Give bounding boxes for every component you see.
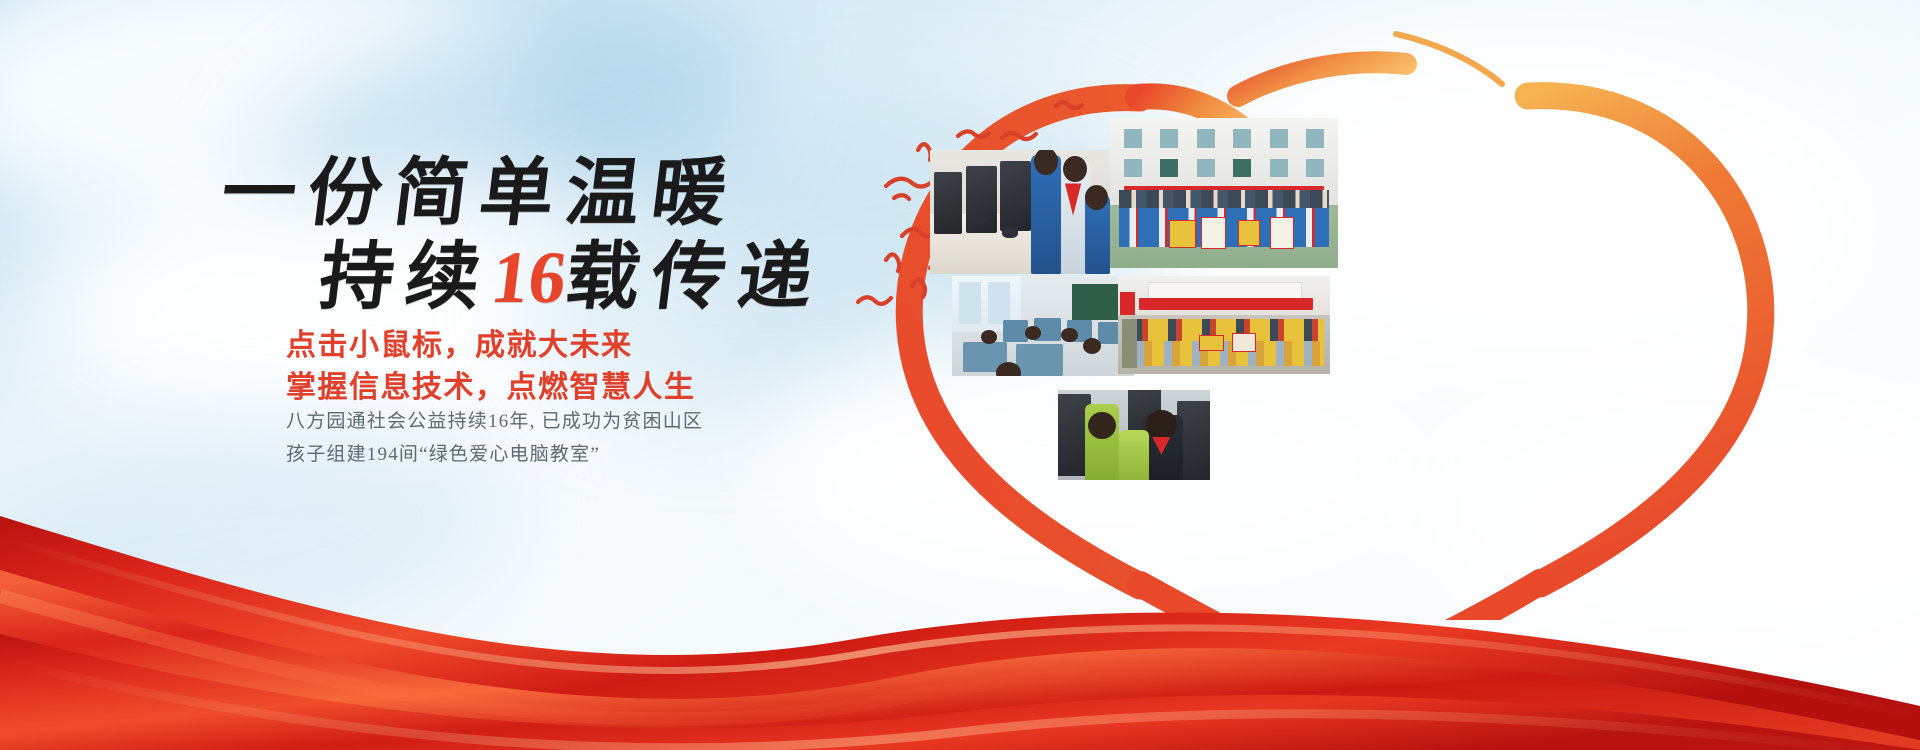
red-silk-ribbon [0, 420, 1920, 750]
headline-line-2: 持续16载传递 [0, 234, 785, 322]
slogan-line-2: 掌握信息技术，点燃智慧人生 [286, 367, 696, 409]
slogan-block: 点击小鼠标，成就大未来 掌握信息技术，点燃智慧人生 [286, 325, 696, 409]
headline-block: 一份简单温暖 持续16载传递 [0, 150, 780, 322]
headline-line-2-before: 持续 [315, 237, 497, 319]
charity-banner: 一份简单温暖 持续16载传递 点击小鼠标，成就大未来 掌握信息技术，点燃智慧人生… [0, 0, 1920, 750]
slogan-line-1: 点击小鼠标，成就大未来 [286, 325, 696, 367]
photo-computer-lab-classroom [952, 276, 1134, 376]
photo-computer-class-students [930, 150, 1110, 274]
photo-school-donation-ceremony-group [1110, 118, 1338, 268]
headline-line-1: 一份简单温暖 [0, 150, 785, 238]
headline-line-2-after: 载传递 [561, 237, 829, 319]
headline-year-accent: 16 [487, 234, 572, 322]
photo-donation-ceremony-indoor-group [1118, 276, 1330, 374]
